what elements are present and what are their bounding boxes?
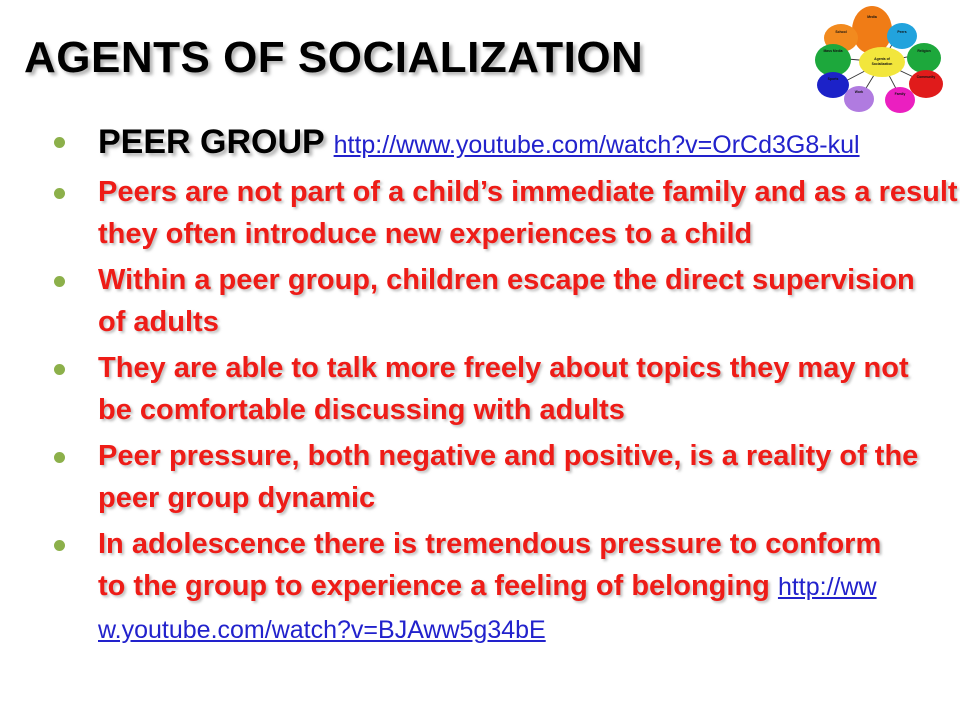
bullet-text: Peer pressure, both negative and positiv… [98,440,918,514]
slide: AGENTS OF SOCIALIZATION PEER GROUP http:… [0,0,960,720]
svg-text:Community: Community [917,75,936,79]
bullet-marker-icon [54,364,65,375]
bullet-text: They are able to talk more freely about … [98,352,909,426]
list-item: Peers are not part of a child’s immediat… [34,171,960,255]
bullet-text: In adolescence there is tremendous press… [98,528,881,602]
list-item: Peer pressure, both negative and positiv… [34,435,960,519]
youtube-link-peer-group[interactable]: http://www.youtube.com/watch?v=OrCd3G8-k… [334,131,860,159]
bullet-lead-text: PEER GROUP [98,123,325,161]
bullet-text: Within a peer group, children escape the… [98,264,915,338]
bullet-list: PEER GROUP http://www.youtube.com/watch?… [34,120,924,655]
svg-text:Socialization: Socialization [872,62,893,66]
svg-text:School: School [835,30,846,34]
bullet-text: Peers are not part of a child’s immediat… [98,176,958,250]
bullet-marker-icon [54,188,65,199]
bullet-marker-icon [54,137,65,148]
list-item: They are able to talk more freely about … [34,347,943,431]
svg-text:Mass Media: Mass Media [823,49,842,53]
agents-of-socialization-diagram-image: Media School Peers Mass Media Religion S… [806,2,958,114]
svg-text:Peers: Peers [897,30,906,34]
list-item: In adolescence there is tremendous press… [34,523,898,651]
bullet-marker-icon [54,276,65,287]
list-item: Within a peer group, children escape the… [34,259,918,343]
list-item: PEER GROUP http://www.youtube.com/watch?… [34,120,924,167]
radial-diagram-svg: Media School Peers Mass Media Religion S… [806,2,958,114]
bullet-marker-icon [54,540,65,551]
page-title: AGENTS OF SOCIALIZATION [24,33,784,83]
svg-text:Media: Media [867,15,877,19]
svg-text:Agents of: Agents of [874,57,891,61]
svg-text:Religion: Religion [917,49,930,53]
svg-text:Sports: Sports [828,77,839,81]
bullet-marker-icon [54,452,65,463]
svg-text:Family: Family [895,92,906,96]
svg-text:Work: Work [855,90,864,94]
